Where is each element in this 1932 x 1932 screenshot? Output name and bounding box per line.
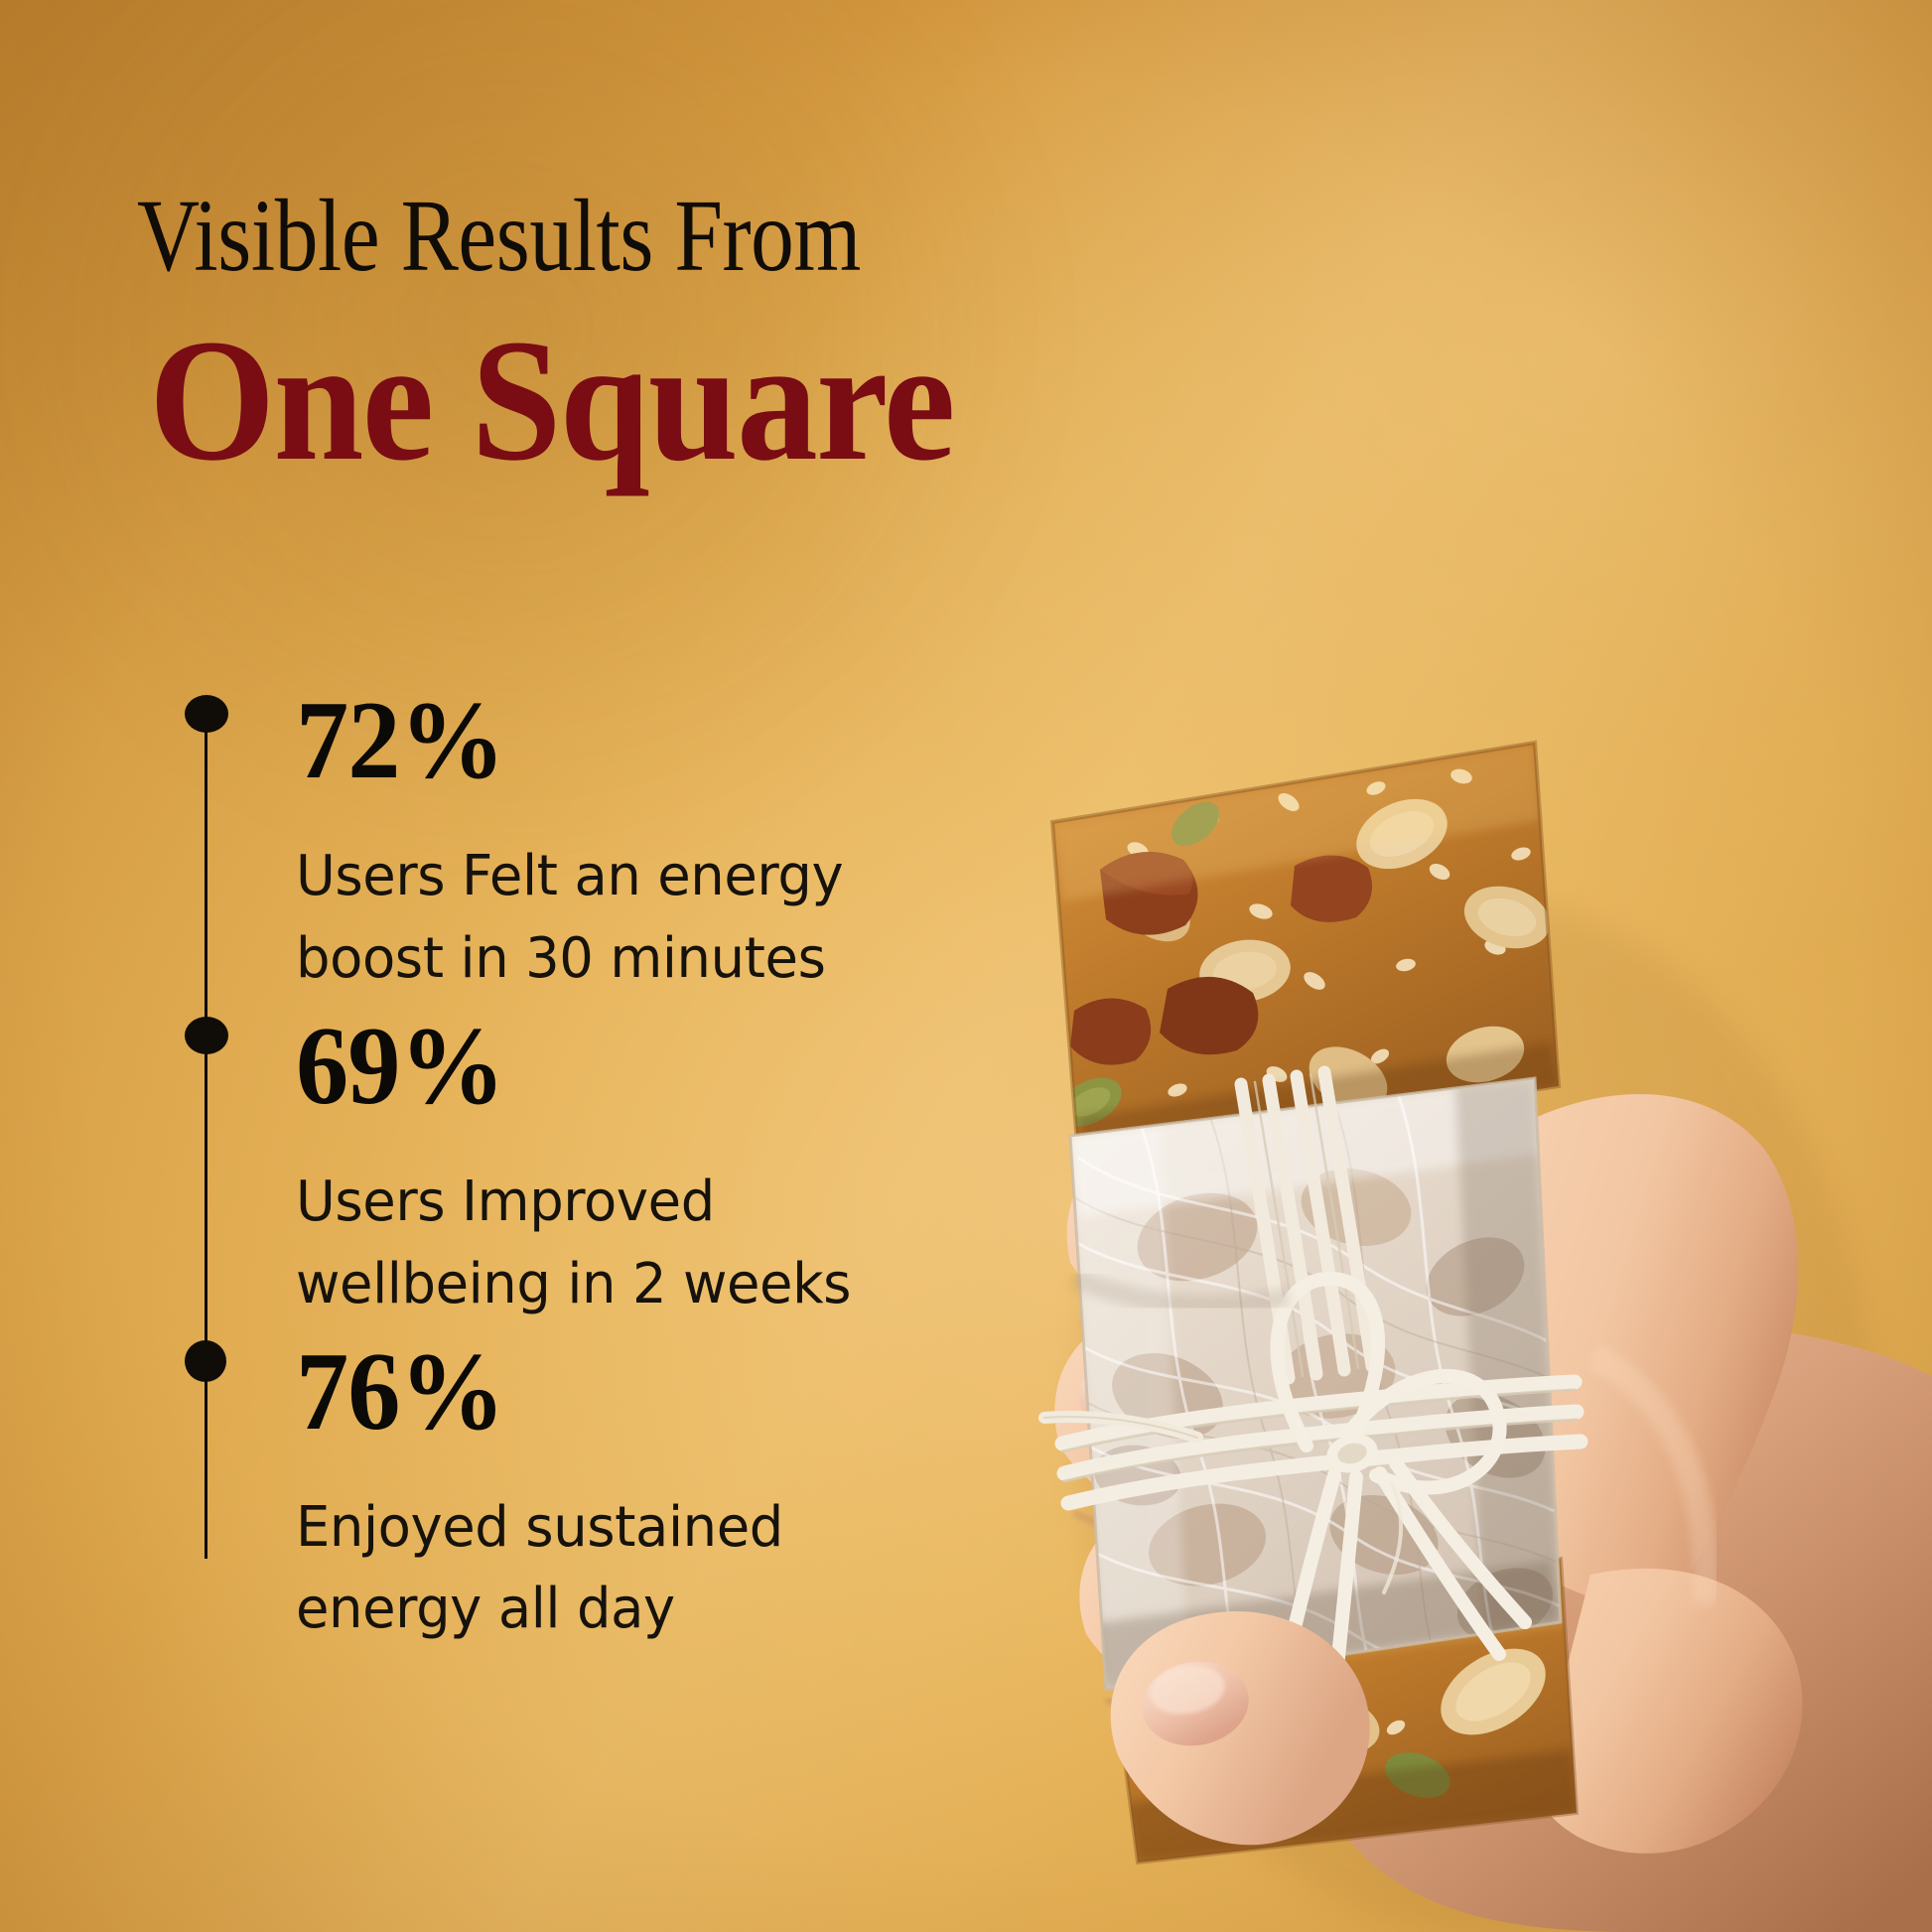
bullet-dot-icon [185, 695, 228, 733]
stat-item: 69% Users Improved wellbeing in 2 weeks [0, 1011, 1052, 1326]
stat-value: 69% [296, 1011, 1015, 1122]
bullet-dot-icon [185, 1017, 228, 1054]
stat-value: 72% [296, 685, 1015, 796]
stats-list: 72% Users Felt an energy boost in 30 min… [0, 685, 1052, 1651]
stat-description: Enjoyed sustained energy all day [296, 1487, 912, 1652]
stat-description-line: wellbeing in 2 weeks [296, 1244, 912, 1326]
stat-description-line: boost in 30 minutes [296, 918, 912, 1001]
headline-line-1: Visible Results From [137, 185, 861, 288]
stat-description-line: Users Improved [296, 1162, 912, 1244]
stat-description-line: Enjoyed sustained [296, 1487, 912, 1570]
stat-description: Users Felt an energy boost in 30 minutes [296, 836, 912, 1001]
headline-line-2: One Square [149, 314, 954, 488]
bullet-dot-icon [185, 1340, 226, 1382]
stat-description-line: Users Felt an energy [296, 836, 912, 918]
stat-item: 76% Enjoyed sustained energy all day [0, 1336, 1052, 1652]
stat-description: Users Improved wellbeing in 2 weeks [296, 1162, 912, 1326]
poster-canvas: Visible Results From One Square 72% User… [0, 0, 1932, 1932]
stat-description-line: energy all day [296, 1569, 912, 1651]
stat-item: 72% Users Felt an energy boost in 30 min… [0, 685, 1052, 1001]
stat-value: 76% [296, 1336, 1015, 1448]
text-column: Visible Results From One Square 72% User… [0, 0, 1052, 1932]
